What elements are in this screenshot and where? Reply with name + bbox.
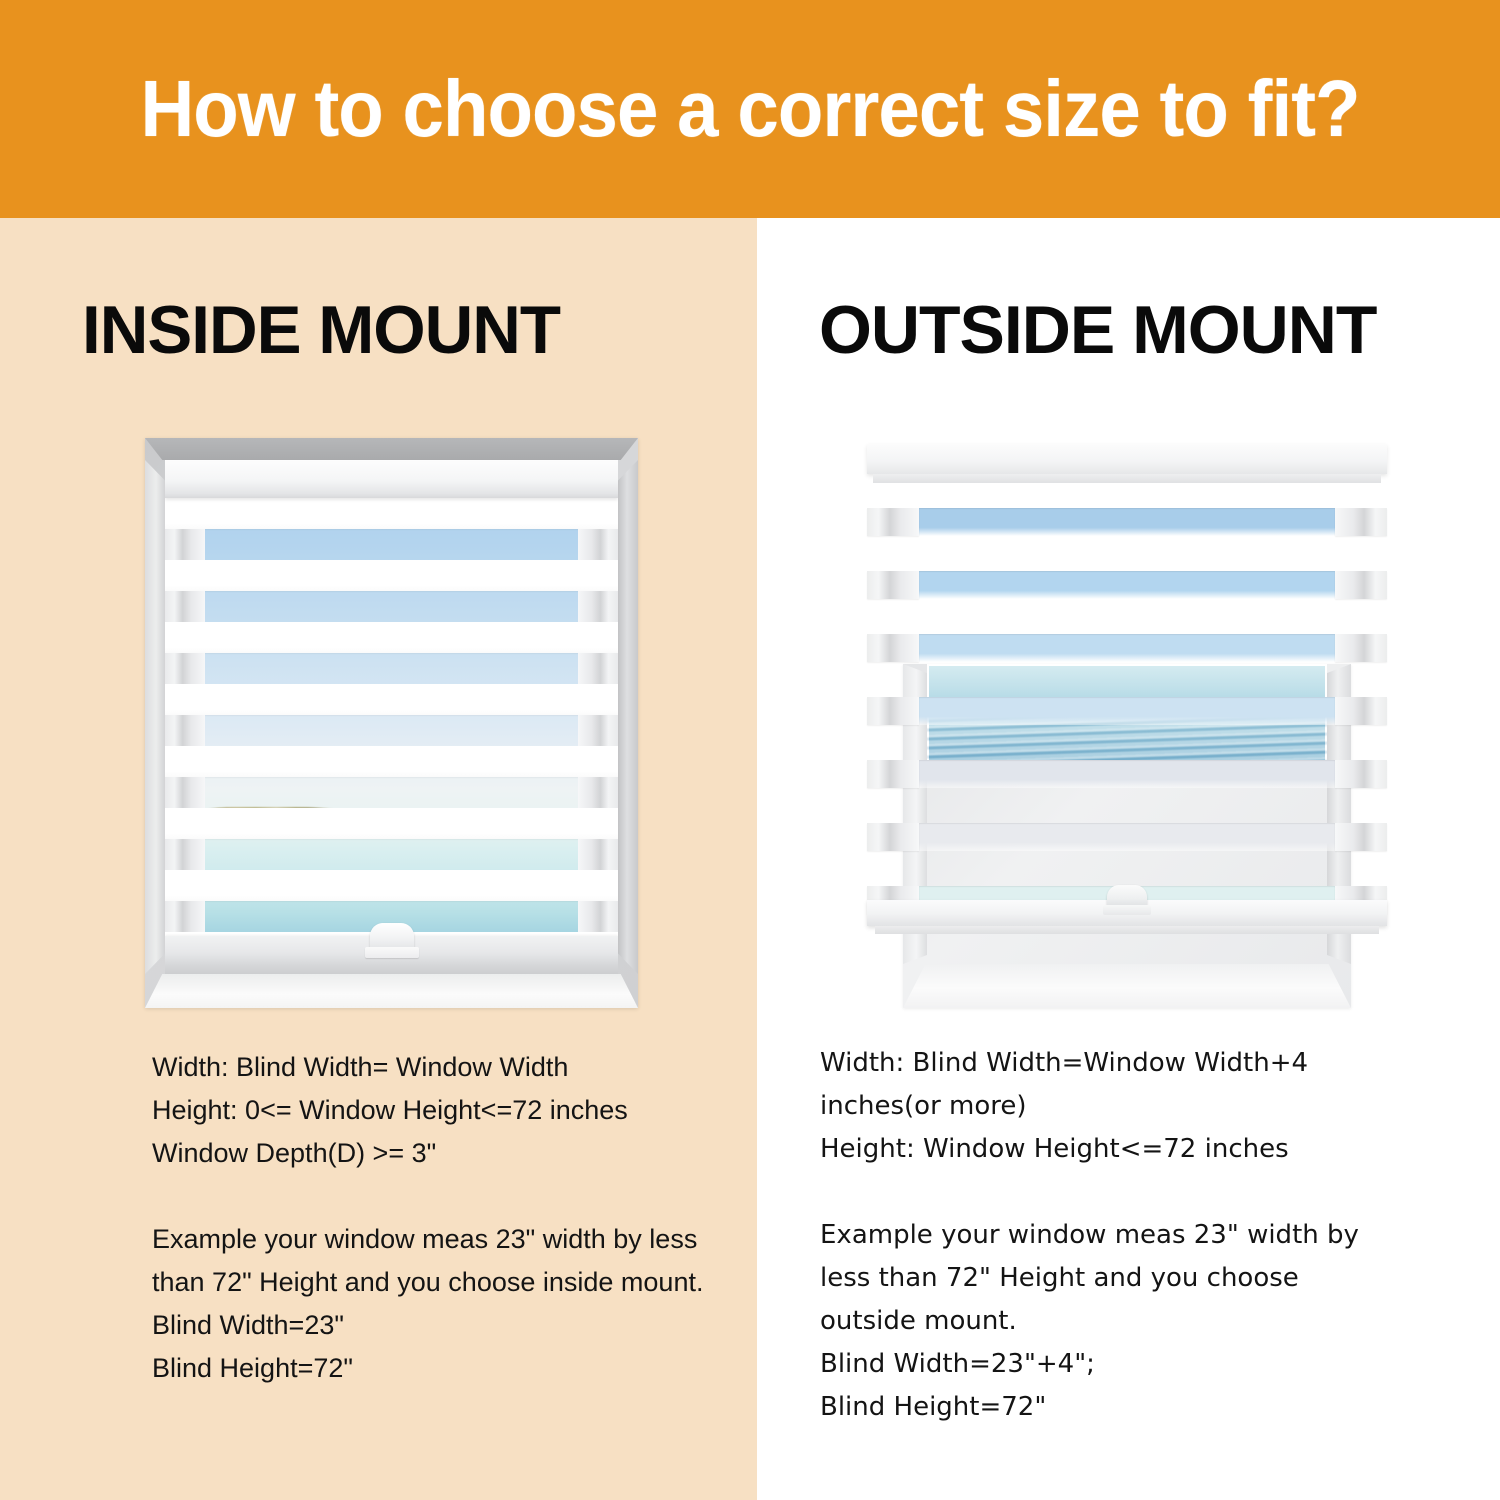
content-panels: INSIDE MOUNT — [0, 218, 1500, 1500]
outside-blind-bottom-rail — [867, 900, 1387, 926]
outside-blind-sheer-band — [867, 823, 1387, 851]
blind-headrail — [165, 460, 618, 498]
outside-blind-sheer-band — [867, 571, 1387, 599]
sheer-band-glass — [919, 697, 1335, 725]
sheer-band-left-cap — [867, 697, 919, 725]
blind-opaque-band — [165, 498, 618, 529]
sheer-band-right-cap — [1335, 634, 1387, 662]
outside-example-line-2: Blind Width=23"+4"; — [820, 1343, 1400, 1386]
sheer-band-left-cap — [867, 760, 919, 788]
sheer-band-glass — [919, 634, 1335, 662]
inside-example-line-2: Blind Width=23" — [152, 1304, 712, 1347]
outside-spec-line-1: Width: Blind Width=Window Width+4 inches… — [820, 1042, 1400, 1128]
inside-spec-line-2: Height: 0<= Window Height<=72 inches — [152, 1089, 712, 1132]
outside-blind-sheer-band — [867, 508, 1387, 536]
outside-blind-sheer-band — [867, 697, 1387, 725]
sheer-band-left-cap — [867, 508, 919, 536]
outside-example-line-3: Blind Height=72" — [820, 1386, 1400, 1429]
outside-mount-text: Width: Blind Width=Window Width+4 inches… — [820, 1042, 1400, 1429]
sheer-band-glass — [919, 508, 1335, 536]
blind-opaque-band — [165, 808, 618, 839]
outside-mount-heading: OUTSIDE MOUNT — [819, 296, 1376, 364]
sheer-band-glass — [919, 823, 1335, 851]
sheer-band-right-cap — [1335, 697, 1387, 725]
sheer-band-right-cap — [1335, 571, 1387, 599]
window-reveal-left — [145, 460, 165, 974]
blind-bottom-rail — [165, 936, 618, 974]
sheer-band-left-cap — [867, 571, 919, 599]
blind-pull-handle[interactable] — [370, 923, 414, 949]
blind-opaque-band — [165, 684, 618, 715]
sheer-band-right-cap — [1335, 760, 1387, 788]
sheer-band-glass — [919, 760, 1335, 788]
sheer-band-right-cap — [1335, 823, 1387, 851]
outside-spec-line-2: Height: Window Height<=72 inches — [820, 1128, 1400, 1171]
inside-mount-illustration — [145, 438, 638, 1008]
blind-opaque-band — [165, 560, 618, 591]
outside-mount-illustration — [867, 438, 1387, 1008]
outside-mount-panel: OUTSIDE MOUNT — [757, 218, 1500, 1500]
blind-opaque-slats — [165, 460, 618, 974]
inside-example-line-1: Example your window meas 23" width by le… — [152, 1218, 712, 1304]
blind-opaque-band — [165, 870, 618, 901]
window-reveal-right — [618, 460, 638, 974]
inside-mount-heading: INSIDE MOUNT — [82, 296, 560, 364]
sheer-band-left-cap — [867, 823, 919, 851]
inside-mount-text: Width: Blind Width= Window Width Height:… — [152, 1046, 712, 1390]
page-title: How to choose a correct size to fit? — [53, 0, 1448, 218]
inside-spec-line-1: Width: Blind Width= Window Width — [152, 1046, 712, 1089]
outside-blind-headrail — [867, 444, 1387, 474]
header-banner: How to choose a correct size to fit? — [0, 0, 1500, 218]
outside-blind-pull-handle[interactable] — [1107, 885, 1147, 907]
sheer-band-right-cap — [1335, 508, 1387, 536]
inside-example-line-3: Blind Height=72" — [152, 1347, 712, 1390]
sheer-band-glass — [919, 571, 1335, 599]
infographic-page: How to choose a correct size to fit? INS… — [0, 0, 1500, 1500]
outside-blind-sheer-band — [867, 634, 1387, 662]
blind-opaque-band — [165, 746, 618, 777]
outside-example-line-1: Example your window meas 23" width by le… — [820, 1214, 1400, 1343]
text-spacer — [820, 1171, 1400, 1214]
inside-mount-panel: INSIDE MOUNT — [0, 218, 757, 1500]
window-opening — [165, 460, 618, 974]
text-spacer — [152, 1175, 712, 1218]
blind-opaque-band — [165, 622, 618, 653]
outside-blind-sheer-band — [867, 760, 1387, 788]
inside-spec-line-3: Window Depth(D) >= 3" — [152, 1132, 712, 1175]
sheer-band-left-cap — [867, 634, 919, 662]
